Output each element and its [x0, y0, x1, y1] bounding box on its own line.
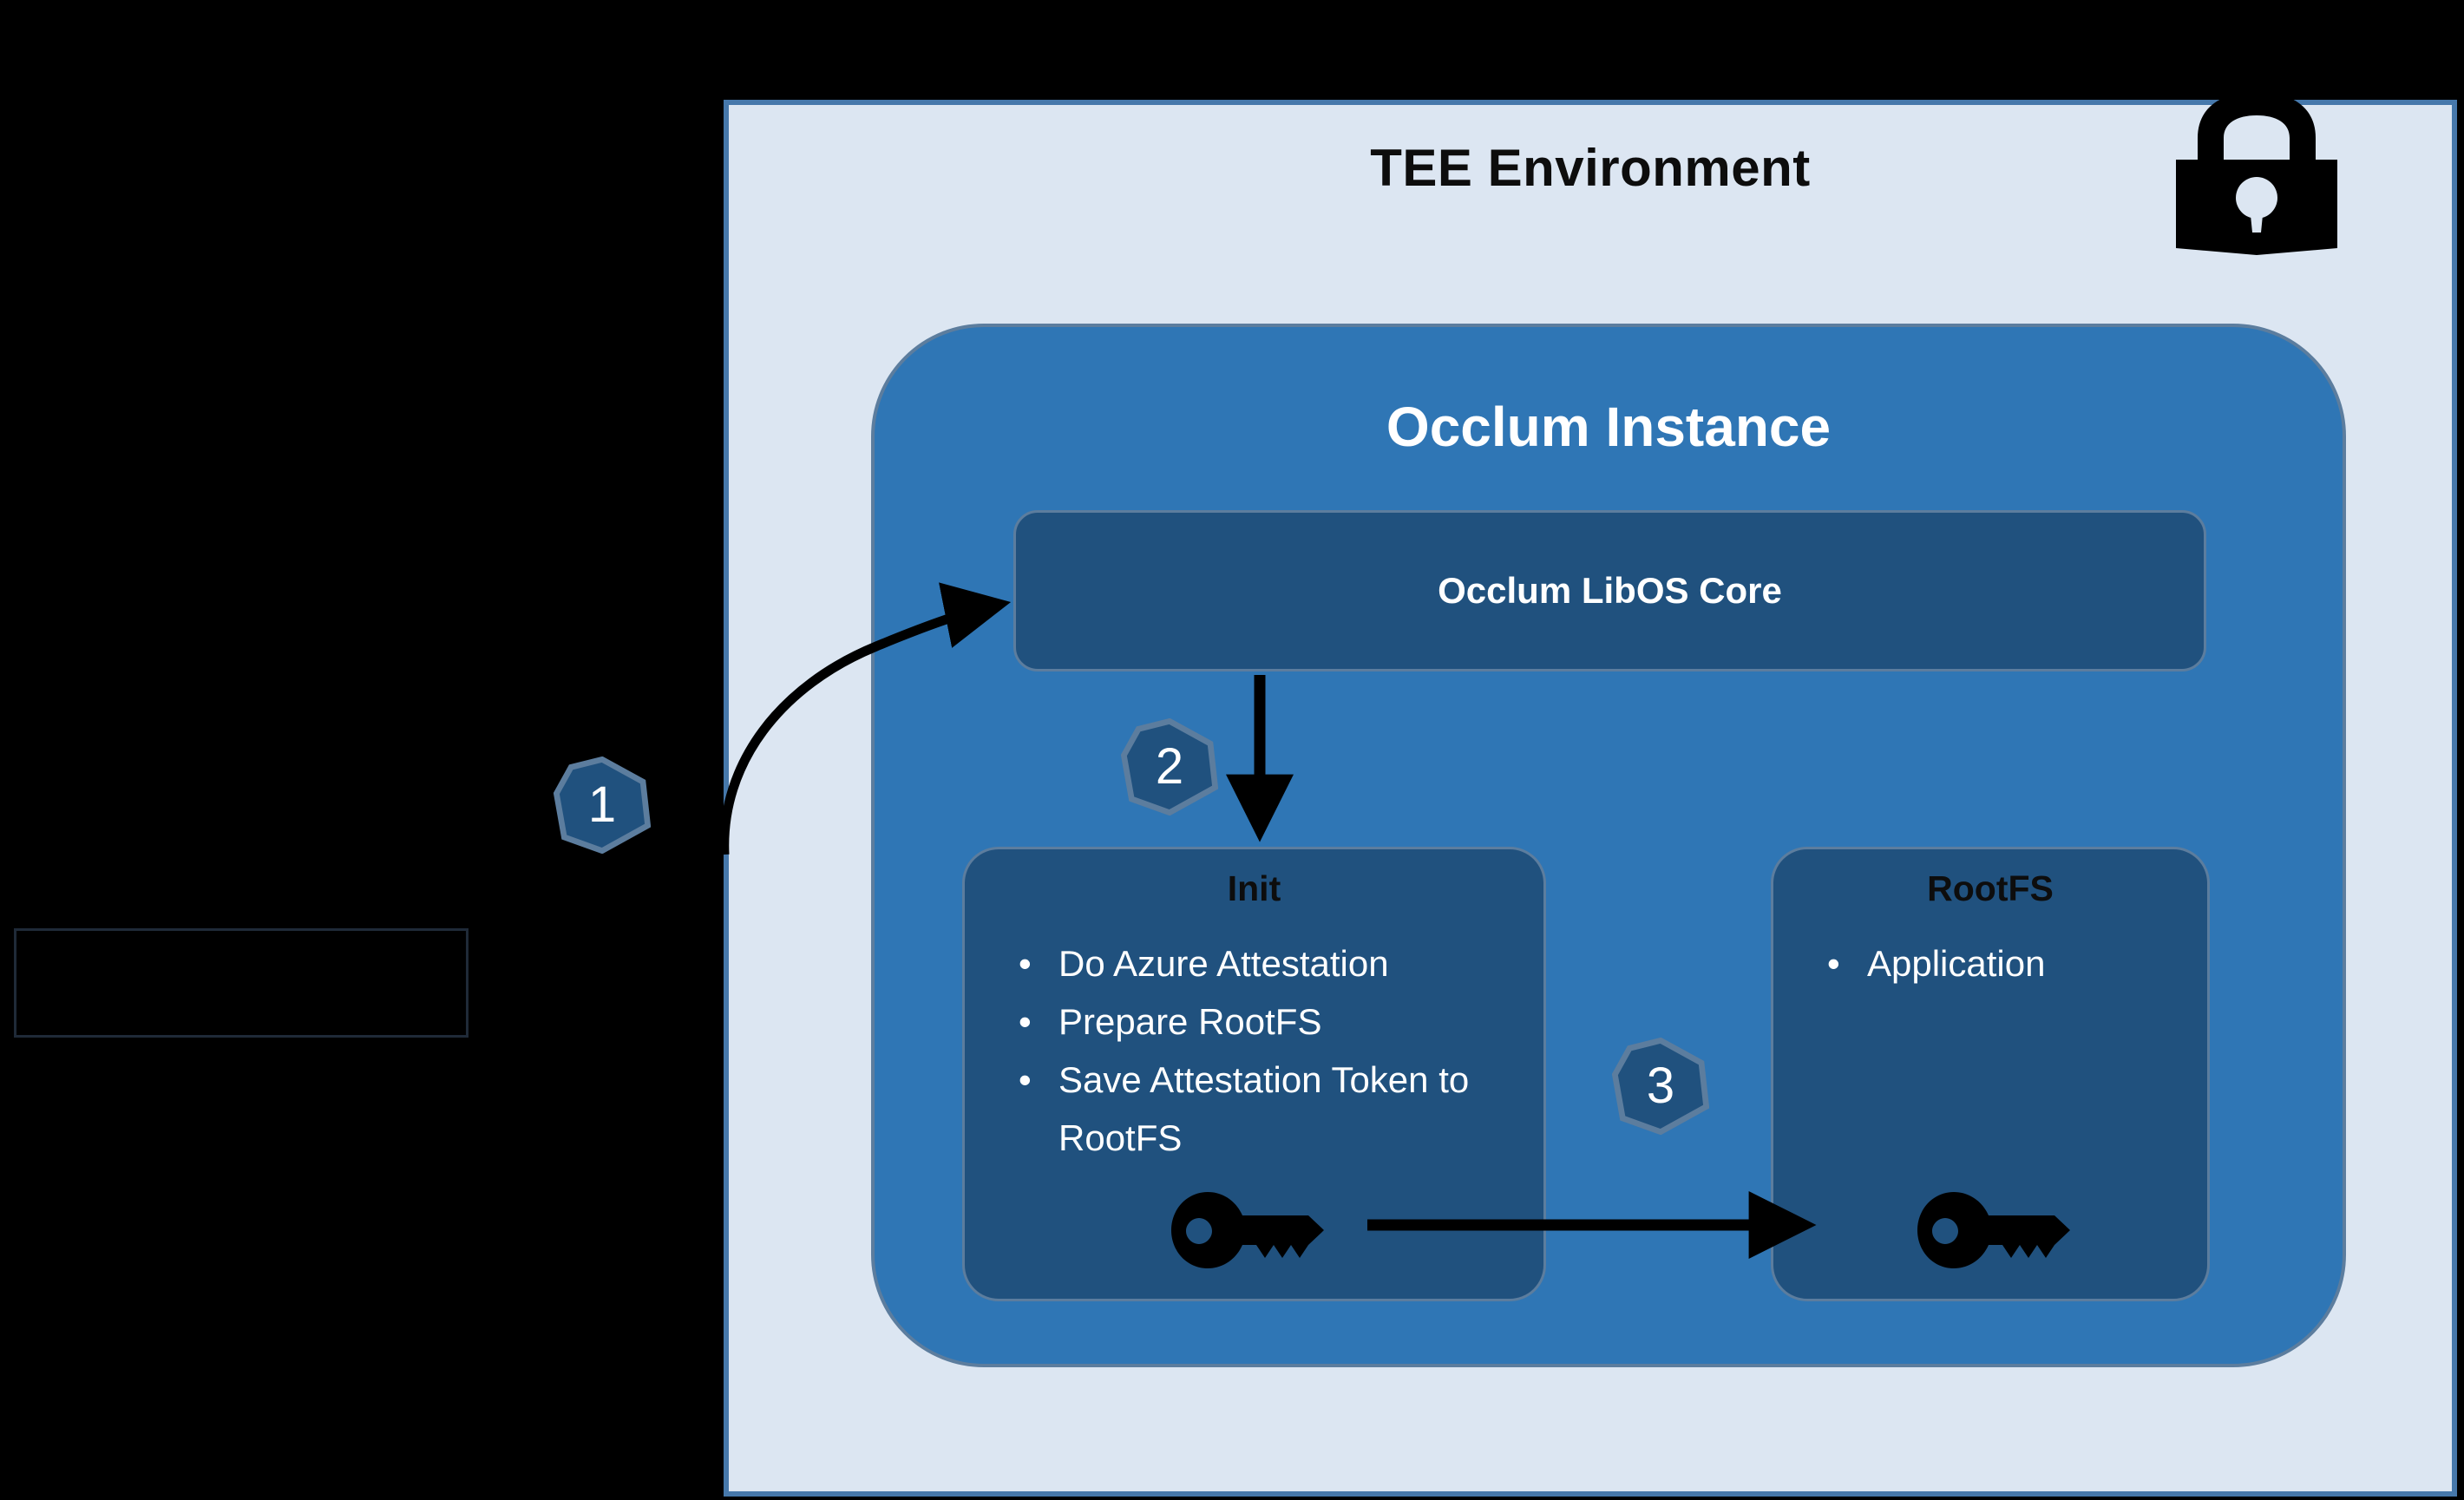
step-badge-number: 1 [588, 780, 616, 830]
left-outlined-rectangle [14, 928, 469, 1038]
list-item: Prepare RootFS [1005, 992, 1531, 1051]
key-icon [1916, 1190, 2072, 1270]
step-badge-number: 2 [1156, 742, 1183, 792]
rootfs-bullet-list: Application [1813, 934, 2195, 992]
list-item: Do Azure Attestation [1005, 934, 1531, 992]
occlum-libos-core-label: Occlum LibOS Core [1438, 570, 1782, 612]
lock-icon [2166, 90, 2348, 255]
occlum-libos-core-box: Occlum LibOS Core [1013, 510, 2206, 671]
init-bullet-list: Do Azure Attestation Prepare RootFS Save… [1005, 934, 1531, 1167]
rootfs-panel-title: RootFS [1773, 868, 2207, 909]
key-icon [1170, 1190, 1326, 1270]
step-badge-3: 3 [1612, 1038, 1709, 1135]
step-badge-2: 2 [1121, 718, 1218, 816]
step-badge-1: 1 [554, 757, 651, 854]
occlum-instance-title: Occlum Instance [875, 395, 2343, 459]
init-panel-title: Init [965, 868, 1543, 909]
list-item: Application [1813, 934, 2195, 992]
diagram-canvas: TEE Environment Occlum Instance Occlum L… [0, 0, 2464, 1500]
step-badge-number: 3 [1647, 1061, 1674, 1111]
list-item: Save Attestation Token to RootFS [1005, 1051, 1531, 1167]
